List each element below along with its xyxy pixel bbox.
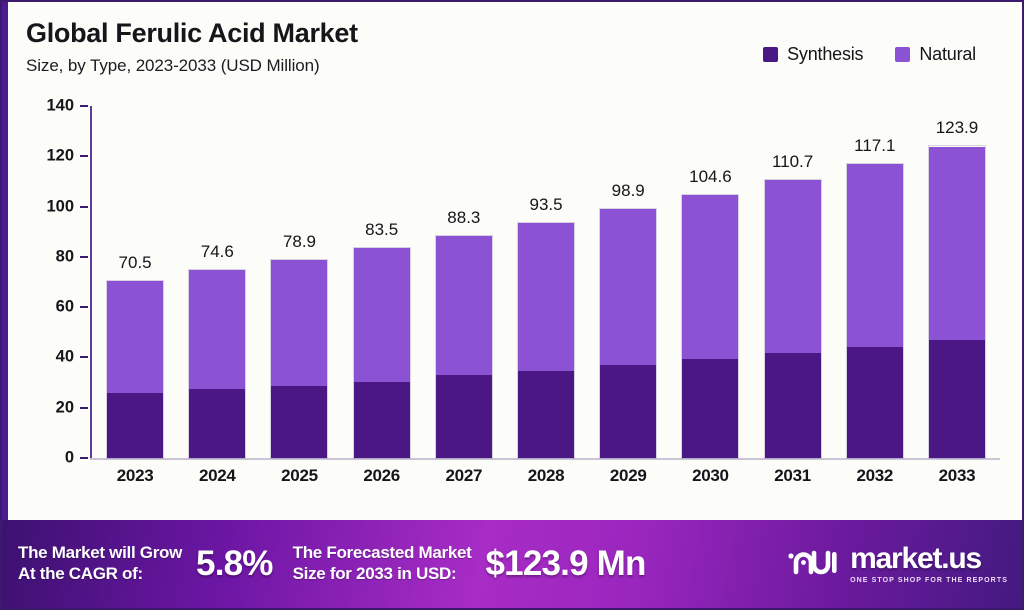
bar-segment-natural[interactable] — [765, 180, 821, 354]
forecast-value: $123.9 Mn — [486, 544, 646, 584]
bar-segment-natural[interactable] — [929, 147, 985, 340]
bar-value-label: 70.5 — [119, 253, 152, 273]
bar-value-label: 93.5 — [529, 195, 562, 215]
bar-slot: 117.1 — [834, 106, 916, 458]
y-tick-label: 120 — [46, 147, 74, 166]
square-swatch-icon — [895, 47, 910, 62]
x-tick-label-2023: 2023 — [94, 466, 176, 486]
bar-slot: 70.5 — [94, 106, 176, 458]
cagr-label: The Market will Grow At the CAGR of: — [18, 543, 182, 584]
bar-slot: 104.6 — [669, 106, 751, 458]
chart-card: Global Ferulic Acid Market Size, by Type… — [2, 2, 1022, 520]
y-tick-mark — [80, 356, 88, 358]
y-tick-mark — [80, 256, 88, 258]
y-tick-label: 40 — [56, 348, 74, 367]
x-axis-line — [90, 458, 1000, 460]
y-tick-mark — [80, 155, 88, 157]
x-tick-label-2032: 2032 — [834, 466, 916, 486]
title-block: Global Ferulic Acid Market Size, by Type… — [26, 16, 358, 76]
bar-segment-natural[interactable] — [600, 209, 656, 365]
stacked-bar[interactable] — [107, 281, 163, 458]
y-tick-mark — [80, 206, 88, 208]
brand-logo[interactable]: market.us ONE STOP SHOP FOR THE REPORTS — [787, 544, 1008, 584]
plot-area: 020406080100120140 70.574.678.983.588.39… — [30, 106, 1008, 514]
y-axis: 020406080100120140 — [30, 106, 88, 458]
bar-slot: 123.9 — [916, 106, 998, 458]
bar-segment-synthesis[interactable] — [929, 340, 985, 458]
bar-segment-synthesis[interactable] — [847, 347, 903, 458]
y-tick-label: 140 — [46, 97, 74, 116]
bar-segment-synthesis[interactable] — [600, 365, 656, 458]
stacked-bar[interactable] — [929, 146, 985, 458]
stacked-bar[interactable] — [271, 260, 327, 458]
bar-segment-natural[interactable] — [436, 236, 492, 375]
bar-segment-synthesis[interactable] — [107, 393, 163, 458]
stacked-bar[interactable] — [600, 209, 656, 458]
bar-segment-natural[interactable] — [518, 223, 574, 371]
bar-slot: 110.7 — [752, 106, 834, 458]
chart-subtitle: Size, by Type, 2023-2033 (USD Million) — [26, 56, 358, 76]
bar-value-label: 110.7 — [772, 152, 813, 172]
y-tick-label: 100 — [46, 197, 74, 216]
x-tick-label-2029: 2029 — [587, 466, 669, 486]
x-tick-label-2030: 2030 — [669, 466, 751, 486]
stacked-bar[interactable] — [189, 270, 245, 458]
stacked-bar[interactable] — [518, 223, 574, 458]
cagr-label-line2: At the CAGR of: — [18, 564, 182, 585]
y-tick-mark — [80, 105, 88, 107]
x-tick-label-2033: 2033 — [916, 466, 998, 486]
y-tick-label: 20 — [56, 398, 74, 417]
x-tick-label-2024: 2024 — [176, 466, 258, 486]
bar-slot: 93.5 — [505, 106, 587, 458]
y-tick-label: 0 — [65, 449, 74, 468]
x-tick-label-2026: 2026 — [341, 466, 423, 486]
cagr-value: 5.8% — [196, 544, 273, 584]
bar-group: 70.574.678.983.588.393.598.9104.6110.711… — [94, 106, 998, 458]
chart-legend: Synthesis Natural — [763, 16, 1004, 65]
forecast-label-line2: Size for 2033 in USD: — [293, 564, 472, 585]
bar-segment-natural[interactable] — [847, 164, 903, 347]
stacked-bar[interactable] — [682, 195, 738, 458]
x-tick-label-2027: 2027 — [423, 466, 505, 486]
left-accent-bar — [2, 2, 8, 520]
bar-slot: 74.6 — [176, 106, 258, 458]
x-tick-label-2025: 2025 — [258, 466, 340, 486]
forecast-label-line1: The Forecasted Market — [293, 543, 472, 564]
forecast-label: The Forecasted Market Size for 2033 in U… — [293, 543, 472, 584]
x-axis-labels: 2023202420252026202720282029203020312032… — [94, 466, 998, 486]
bar-value-label: 74.6 — [201, 242, 234, 262]
bar-value-label: 123.9 — [936, 118, 979, 138]
page-title: Global Ferulic Acid Market — [26, 18, 358, 48]
bar-segment-synthesis[interactable] — [354, 382, 410, 458]
legend-label-synthesis: Synthesis — [787, 44, 863, 65]
y-axis-line — [90, 106, 92, 460]
bar-segment-natural[interactable] — [682, 195, 738, 359]
bar-value-label: 78.9 — [283, 232, 316, 252]
bar-slot: 98.9 — [587, 106, 669, 458]
bar-value-label: 88.3 — [447, 208, 480, 228]
bar-segment-synthesis[interactable] — [682, 359, 738, 458]
y-tick-mark — [80, 306, 88, 308]
legend-item-synthesis[interactable]: Synthesis — [763, 44, 863, 65]
bar-slot: 88.3 — [423, 106, 505, 458]
bar-value-label: 104.6 — [689, 167, 732, 187]
x-tick-label-2031: 2031 — [752, 466, 834, 486]
square-swatch-icon — [763, 47, 778, 62]
y-tick-mark — [80, 457, 88, 459]
x-tick-label-2028: 2028 — [505, 466, 587, 486]
legend-item-natural[interactable]: Natural — [895, 44, 976, 65]
bar-value-label: 117.1 — [854, 136, 895, 156]
bar-segment-synthesis[interactable] — [765, 353, 821, 458]
brand-text: market.us ONE STOP SHOP FOR THE REPORTS — [850, 544, 1008, 584]
stacked-bar[interactable] — [436, 236, 492, 458]
footer-banner: The Market will Grow At the CAGR of: 5.8… — [2, 520, 1022, 608]
bar-segment-synthesis[interactable] — [436, 375, 492, 458]
y-tick-mark — [80, 407, 88, 409]
market-us-logo-icon — [787, 547, 841, 581]
bar-segment-natural[interactable] — [271, 260, 327, 386]
stacked-bar[interactable] — [354, 248, 410, 458]
brand-tagline: ONE STOP SHOP FOR THE REPORTS — [850, 577, 1008, 584]
bar-segment-synthesis[interactable] — [271, 386, 327, 458]
stacked-bar[interactable] — [765, 180, 821, 458]
bar-segment-synthesis[interactable] — [518, 371, 574, 458]
y-tick-label: 60 — [56, 298, 74, 317]
stacked-bar[interactable] — [847, 164, 903, 458]
chart-header: Global Ferulic Acid Market Size, by Type… — [26, 16, 1004, 76]
legend-label-natural: Natural — [919, 44, 976, 65]
bar-slot: 78.9 — [258, 106, 340, 458]
brand-name: market.us — [850, 544, 981, 574]
bar-segment-synthesis[interactable] — [189, 389, 245, 458]
bar-value-label: 83.5 — [365, 220, 398, 240]
bar-segment-natural[interactable] — [354, 248, 410, 382]
cagr-label-line1: The Market will Grow — [18, 543, 182, 564]
bar-segment-natural[interactable] — [107, 281, 163, 393]
bar-slot: 83.5 — [341, 106, 423, 458]
infographic-root: Global Ferulic Acid Market Size, by Type… — [0, 0, 1024, 610]
bar-segment-natural[interactable] — [189, 270, 245, 389]
bar-value-label: 98.9 — [612, 181, 645, 201]
y-tick-label: 80 — [56, 247, 74, 266]
